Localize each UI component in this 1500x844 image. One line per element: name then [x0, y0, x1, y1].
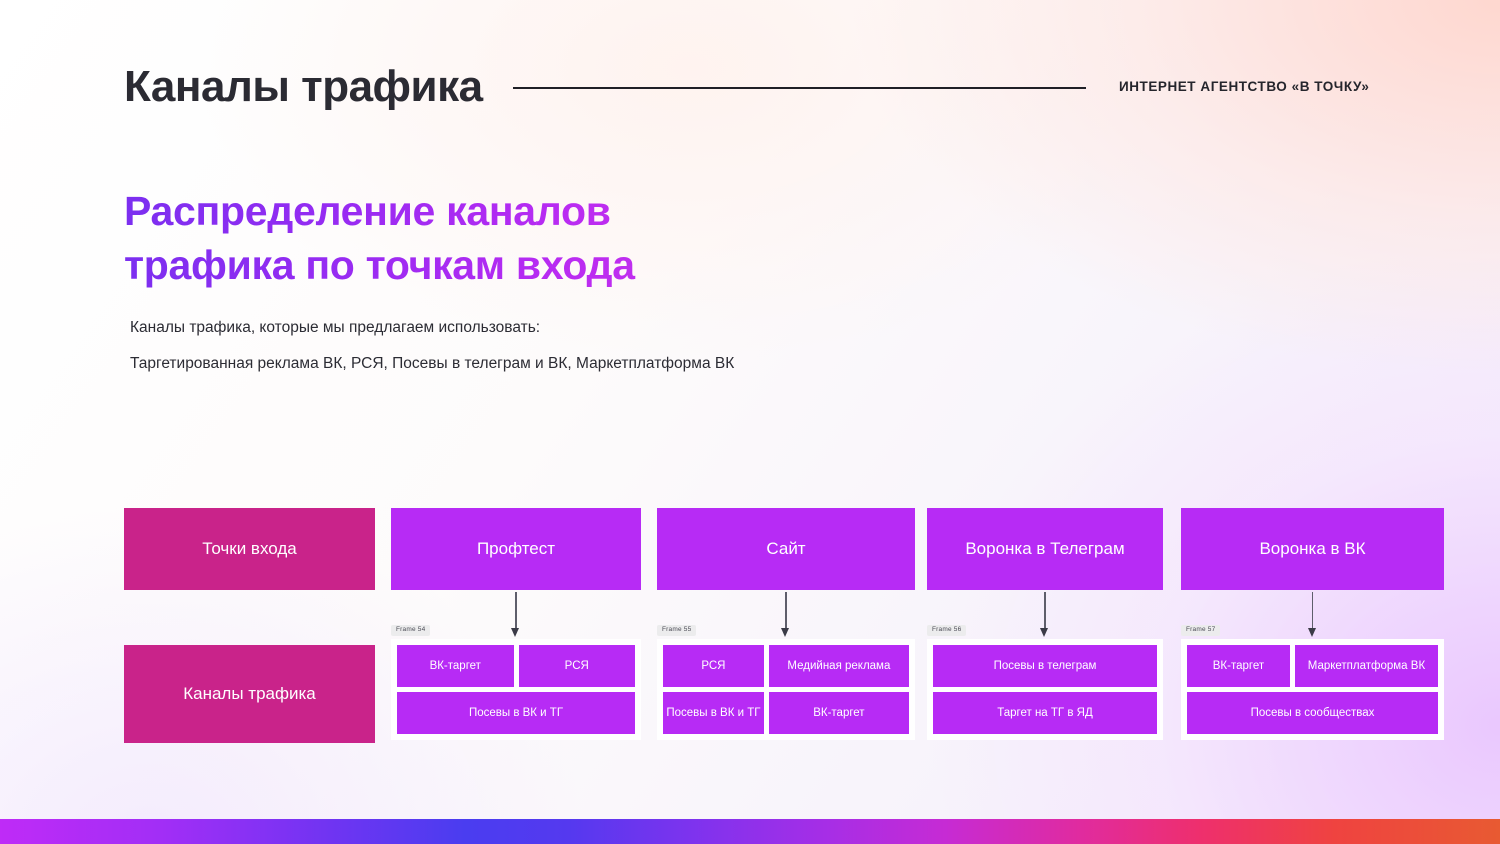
channel-frame-telegram: Frame 56 Посевы в телеграм Таргет на ТГ …: [927, 639, 1163, 740]
column-head-vk: Воронка в ВК: [1181, 508, 1444, 590]
channel-cell: ВК-таргет: [769, 692, 909, 734]
arrow-down-icon: [1040, 592, 1050, 638]
channel-cell: Посевы в сообществах: [1187, 692, 1438, 734]
frame-tag: Frame 56: [927, 625, 966, 636]
column-head-proftest: Профтест: [391, 508, 641, 590]
slide: Каналы трафика ИНТЕРНЕТ АГЕНТСТВО «В ТОЧ…: [0, 0, 1500, 844]
arrow-down-icon: [511, 592, 521, 638]
diagram-column-telegram: Воронка в Телеграм Frame 56 Посевы в тел…: [927, 508, 1163, 590]
headline-line-1: Распределение каналов: [124, 188, 611, 234]
header-divider: [513, 87, 1086, 89]
channel-cell: ВК-таргет: [1187, 645, 1290, 687]
column-head-site: Сайт: [657, 508, 915, 590]
traffic-channels-diagram: Точки входа Каналы трафика Профтест Fram…: [124, 508, 1444, 754]
channel-frame-vk: Frame 57 ВК-таргет Маркетплатформа ВК По…: [1181, 639, 1444, 740]
diagram-legend-column: Точки входа Каналы трафика: [124, 508, 375, 743]
section-headline: Распределение каналов трафика по точкам …: [124, 184, 824, 292]
brand-label: ИНТЕРНЕТ АГЕНТСТВО «В ТОЧКУ»: [1119, 79, 1369, 94]
body-paragraph-2: Таргетированная реклама ВК, РСЯ, Посевы …: [130, 351, 750, 376]
channel-cell: Маркетплатформа ВК: [1295, 645, 1438, 687]
channel-cell: Посевы в ВК и ТГ: [663, 692, 764, 734]
body-copy: Каналы трафика, которые мы предлагаем ис…: [130, 315, 750, 376]
legend-traffic-channels: Каналы трафика: [124, 645, 375, 743]
diagram-column-vk: Воронка в ВК Frame 57 ВК-таргет Маркетпл…: [1181, 508, 1444, 590]
channel-frame-proftest: Frame 54 ВК-таргет РСЯ Посевы в ВК и ТГ: [391, 639, 641, 740]
frame-tag: Frame 57: [1181, 625, 1220, 636]
channel-cell: ВК-таргет: [397, 645, 514, 687]
slide-header: Каналы трафика ИНТЕРНЕТ АГЕНТСТВО «В ТОЧ…: [124, 68, 1500, 128]
channel-cell: Таргет на ТГ в ЯД: [933, 692, 1157, 734]
body-paragraph-1: Каналы трафика, которые мы предлагаем ис…: [130, 315, 750, 340]
legend-entry-points: Точки входа: [124, 508, 375, 590]
diagram-column-proftest: Профтест Frame 54 ВК-таргет РСЯ Посевы в…: [391, 508, 641, 590]
diagram-column-site: Сайт Frame 55 РСЯ Медийная реклама Посев…: [657, 508, 915, 590]
channel-cell: РСЯ: [663, 645, 764, 687]
channel-cell: Посевы в телеграм: [933, 645, 1157, 687]
arrow-down-icon: [781, 592, 791, 638]
channel-cell: Посевы в ВК и ТГ: [397, 692, 635, 734]
frame-tag: Frame 54: [391, 625, 430, 636]
frame-tag: Frame 55: [657, 625, 696, 636]
channel-cell: РСЯ: [519, 645, 636, 687]
page-title: Каналы трафика: [124, 62, 483, 112]
column-head-telegram: Воронка в Телеграм: [927, 508, 1163, 590]
channel-cell: Медийная реклама: [769, 645, 909, 687]
arrow-down-icon: [1308, 592, 1318, 638]
headline-line-2: трафика по точкам входа: [124, 238, 824, 292]
channel-frame-site: Frame 55 РСЯ Медийная реклама Посевы в В…: [657, 639, 915, 740]
bottom-accent-bar: [0, 819, 1500, 844]
